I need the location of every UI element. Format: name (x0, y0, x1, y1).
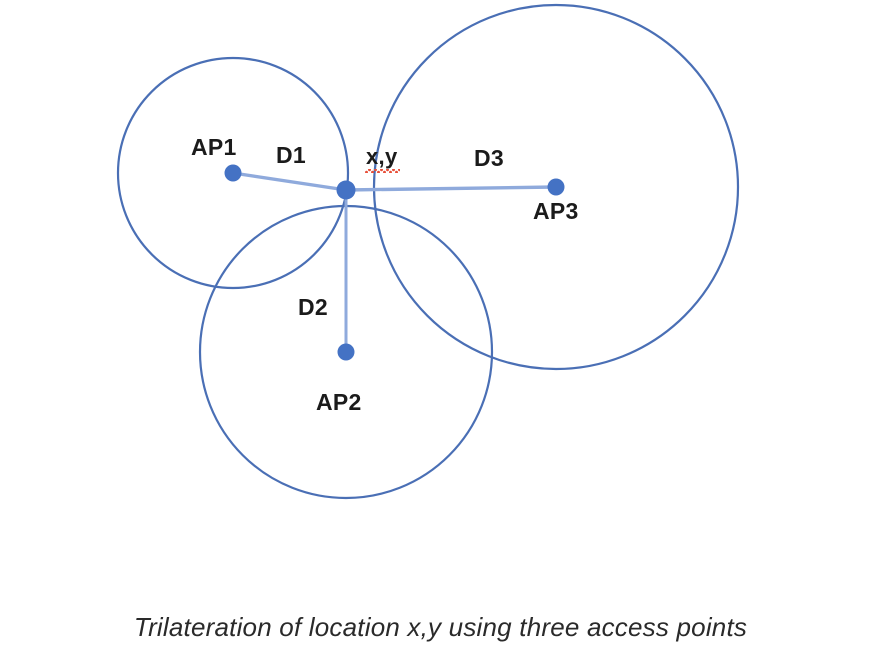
diagram-svg (0, 0, 881, 665)
access-point-label-ap2: AP2 (316, 391, 362, 414)
figure-caption: Trilateration of location x,y using thre… (0, 612, 881, 643)
access-point-dot-ap3[interactable] (548, 179, 565, 196)
access-point-label-ap1: AP1 (191, 136, 237, 159)
estimated-location-label: x,y (366, 146, 397, 168)
access-point-dot-ap1[interactable] (225, 165, 242, 182)
trilateration-diagram: AP1 AP2 AP3 D1 D2 D3 x,y (0, 0, 881, 665)
estimated-location-dot[interactable] (337, 181, 356, 200)
access-point-dot-ap2[interactable] (338, 344, 355, 361)
distance-label-d1: D1 (276, 144, 306, 167)
distance-label-d2: D2 (298, 296, 328, 319)
distance-label-d3: D3 (474, 147, 504, 170)
distance-line-d3 (346, 187, 556, 190)
distance-line-d1 (233, 173, 346, 190)
spellcheck-underline-text: x,y (366, 146, 397, 168)
access-point-label-ap3: AP3 (533, 200, 579, 223)
